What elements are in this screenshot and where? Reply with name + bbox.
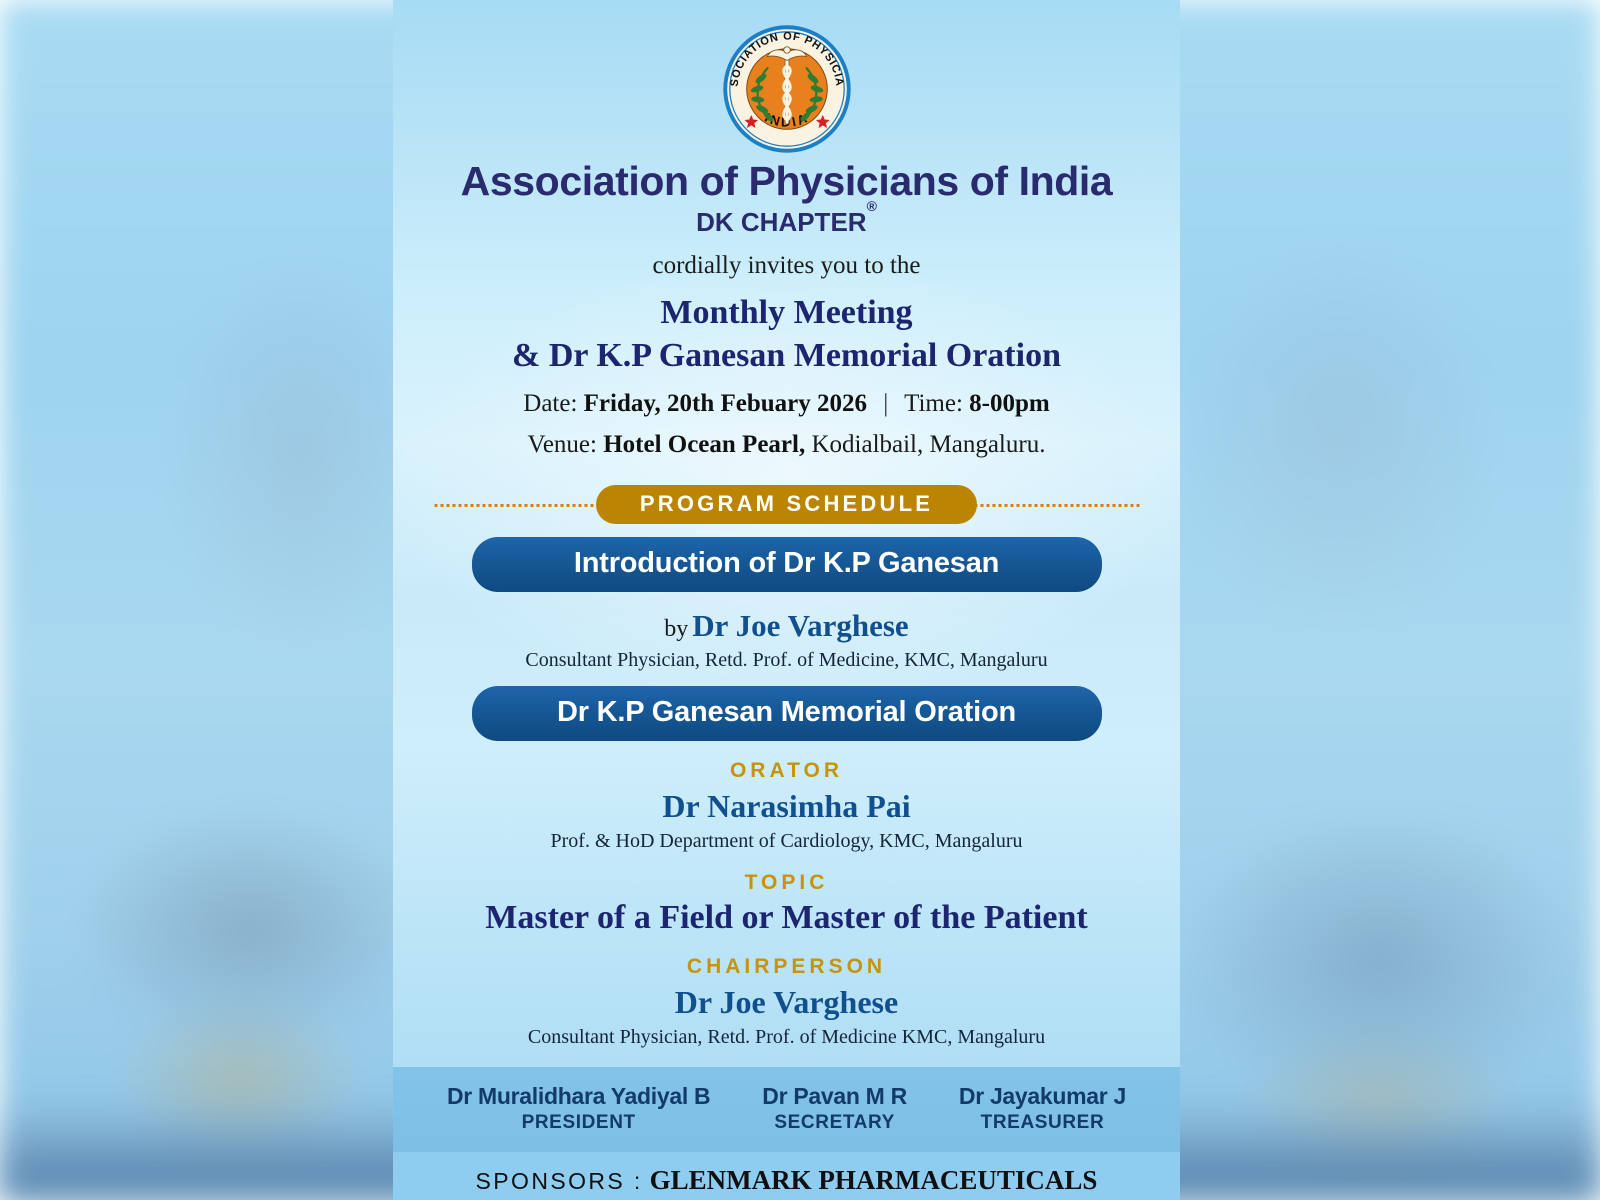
meeting-title-line1: Monthly Meeting: [660, 294, 912, 331]
oration-banner: Dr K.P Ganesan Memorial Oration: [472, 686, 1102, 741]
event-invitation-poster: ASSOCIATION OF PHYSICIANS INDIA: [393, 0, 1180, 1200]
office-bearer-role: TREASURER: [959, 1112, 1126, 1134]
venue-name: Hotel Ocean Pearl,: [603, 431, 805, 458]
meeting-title: Monthly Meeting & Dr K.P Ganesan Memoria…: [393, 292, 1180, 377]
venue-label: Venue:: [528, 431, 597, 458]
chairperson-affiliation: Consultant Physician, Retd. Prof. of Med…: [393, 1026, 1180, 1049]
venue-row: Venue: Hotel Ocean Pearl, Kodialbail, Ma…: [393, 431, 1180, 459]
orator-kicker: ORATOR: [393, 759, 1180, 783]
topic-kicker: TOPIC: [393, 871, 1180, 895]
chapter-subtitle: DK CHAPTER®: [393, 207, 1180, 238]
sponsors-label: SPONSORS :: [476, 1168, 643, 1194]
introduction-banner: Introduction of Dr K.P Ganesan: [472, 537, 1102, 592]
program-schedule-header: PROGRAM SCHEDULE: [393, 485, 1180, 523]
office-bearer-role: SECRETARY: [762, 1112, 907, 1134]
logo-container: ASSOCIATION OF PHYSICIANS INDIA: [393, 0, 1180, 154]
office-bearer-name: Dr Muralidhara Yadiyal B: [447, 1083, 710, 1110]
office-bearer: Dr Pavan M R SECRETARY: [762, 1083, 907, 1134]
date-time-row: Date: Friday, 20th Febuary 2026 | Time: …: [393, 390, 1180, 418]
date-value: Friday, 20th Febuary 2026: [584, 390, 867, 417]
chapter-label: DK CHAPTER: [696, 207, 866, 237]
introduction-speaker-name: Dr Joe Varghese: [692, 608, 908, 643]
office-bearers-band: Dr Muralidhara Yadiyal B PRESIDENT Dr Pa…: [393, 1067, 1180, 1152]
date-label: Date:: [523, 390, 577, 417]
sponsors-band: SPONSORS : GLENMARK PHARMACEUTICALS: [393, 1152, 1180, 1200]
introduction-speaker-row: byDr Joe Varghese: [393, 608, 1180, 644]
time-label: Time:: [904, 390, 963, 417]
office-bearer-name: Dr Pavan M R: [762, 1083, 907, 1110]
invitation-line: cordially invites you to the: [393, 252, 1180, 280]
orator-name: Dr Narasimha Pai: [393, 788, 1180, 825]
topic-title: Master of a Field or Master of the Patie…: [393, 899, 1180, 937]
office-bearer-role: PRESIDENT: [447, 1112, 710, 1134]
sponsor-name: GLENMARK PHARMACEUTICALS: [650, 1165, 1098, 1195]
by-label: by: [664, 616, 688, 642]
orator-affiliation: Prof. & HoD Department of Cardiology, KM…: [393, 830, 1180, 853]
meeting-title-line2: & Dr K.P Ganesan Memorial Oration: [393, 335, 1180, 378]
program-schedule-ribbon: PROGRAM SCHEDULE: [596, 485, 977, 524]
office-bearer-name: Dr Jayakumar J: [959, 1083, 1126, 1110]
date-time-separator: |: [873, 390, 898, 418]
office-bearer: Dr Muralidhara Yadiyal B PRESIDENT: [447, 1083, 710, 1134]
introduction-speaker-affiliation: Consultant Physician, Retd. Prof. of Med…: [393, 649, 1180, 672]
venue-address: Kodialbail, Mangaluru.: [811, 431, 1045, 458]
time-value: 8-00pm: [969, 390, 1050, 417]
page-title: Association of Physicians of India: [393, 160, 1180, 203]
office-bearer: Dr Jayakumar J TREASURER: [959, 1083, 1126, 1134]
chairperson-name: Dr Joe Varghese: [393, 984, 1180, 1021]
chairperson-kicker: CHAIRPERSON: [393, 955, 1180, 979]
api-emblem-icon: ASSOCIATION OF PHYSICIANS INDIA: [722, 24, 852, 154]
registered-mark: ®: [867, 198, 877, 214]
